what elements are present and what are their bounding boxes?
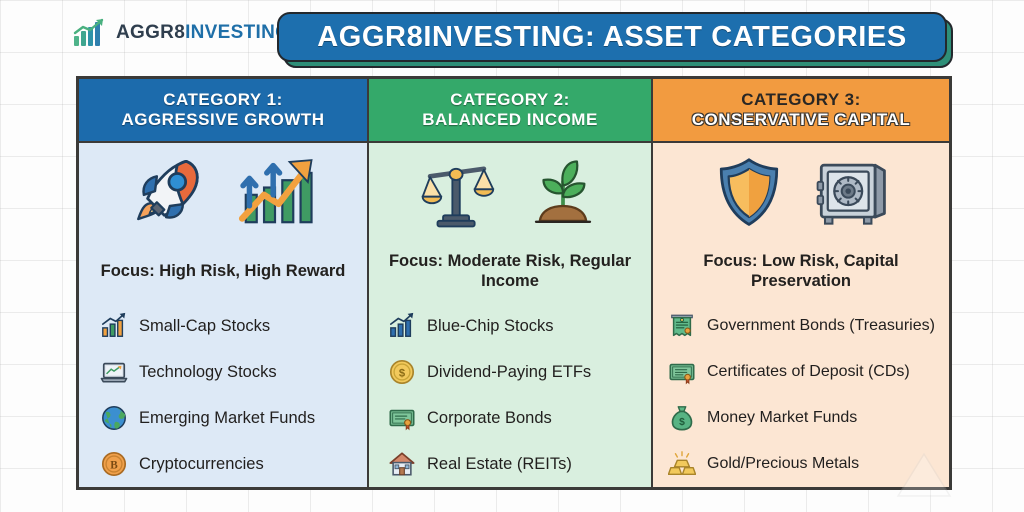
list-item-label: Emerging Market Funds xyxy=(139,409,315,427)
list-item-label: Gold/Precious Metals xyxy=(707,455,859,473)
globe-icon xyxy=(99,403,129,433)
certificate-icon xyxy=(667,357,697,387)
page-title: AGGR8INVESTING: ASSET CATEGORIES xyxy=(317,21,907,54)
brand-wordmark: AGGR8INVESTING xyxy=(116,22,290,44)
svg-text:$: $ xyxy=(399,368,406,380)
category-1-header: CATEGORY 1: AGGRESSIVE GROWTH xyxy=(79,79,367,143)
list-item-label: Small-Cap Stocks xyxy=(139,317,270,335)
bitcoin-coin-icon: B xyxy=(99,449,129,479)
scroll-certificate-icon xyxy=(667,311,697,341)
list-item[interactable]: Emerging Market Funds xyxy=(79,395,367,441)
list-item[interactable]: Small-Cap Stocks xyxy=(79,303,367,349)
seedling-icon xyxy=(523,154,603,232)
category-column-2: CATEGORY 2: BALANCED INCOME xyxy=(369,79,653,487)
category-2-focus: Focus: Moderate Risk, Regular Income xyxy=(369,243,651,299)
category-column-3: CATEGORY 3: CONSERVATIVE CAPITAL xyxy=(653,79,949,487)
category-3-focus: Focus: Low Risk, Capital Preservation xyxy=(653,243,949,299)
list-item-label: Government Bonds (Treasuries) xyxy=(707,317,935,335)
money-bag-icon: $ xyxy=(667,403,697,433)
brand-logo[interactable]: AGGR8INVESTING xyxy=(72,18,290,48)
list-item[interactable]: Blue-Chip Stocks xyxy=(369,303,651,349)
list-item-label: Technology Stocks xyxy=(139,363,277,381)
category-1-item-list: Small-Cap Stocks Technology Stocks xyxy=(79,299,367,487)
list-item[interactable]: Gold/Precious Metals xyxy=(653,441,949,487)
house-icon xyxy=(387,449,417,479)
list-item[interactable]: Technology Stocks xyxy=(79,349,367,395)
bond-certificate-icon xyxy=(387,403,417,433)
category-2-item-list: Blue-Chip Stocks $ Dividend-Paying ETFs xyxy=(369,299,651,487)
category-3-focus-text: Focus: Low Risk, Capital Preservation xyxy=(667,251,935,291)
infographic-page: AGGR8INVESTING AGGR8INVESTING: ASSET CAT… xyxy=(0,0,1024,512)
balance-scale-icon xyxy=(417,154,497,232)
list-item-label: Blue-Chip Stocks xyxy=(427,317,554,335)
bar-chart-icon xyxy=(387,311,417,341)
list-item-label: Money Market Funds xyxy=(707,409,857,427)
category-2-header: CATEGORY 2: BALANCED INCOME xyxy=(369,79,651,143)
list-item-label: Corporate Bonds xyxy=(427,409,552,427)
list-item-label: Certificates of Deposit (CDs) xyxy=(707,363,910,381)
category-1-focus: Focus: High Risk, High Reward xyxy=(79,243,367,299)
category-2-header-line1: CATEGORY 2: xyxy=(450,90,569,110)
title-banner-body: AGGR8INVESTING: ASSET CATEGORIES xyxy=(277,12,947,62)
rocket-icon xyxy=(129,154,207,232)
gold-bars-icon xyxy=(667,449,697,479)
category-1-focus-text: Focus: High Risk, High Reward xyxy=(101,261,346,281)
svg-text:B: B xyxy=(110,460,118,472)
list-item-label: Real Estate (REITs) xyxy=(427,455,572,473)
brand-wordmark-part1: AGGR8 xyxy=(116,22,185,43)
category-column-1: CATEGORY 1: AGGRESSIVE GROWTH xyxy=(79,79,369,487)
top-bar: AGGR8INVESTING AGGR8INVESTING: ASSET CAT… xyxy=(0,0,1024,72)
svg-text:$: $ xyxy=(679,417,685,428)
category-3-header: CATEGORY 3: CONSERVATIVE CAPITAL xyxy=(653,79,949,143)
safe-vault-icon xyxy=(812,154,890,232)
list-item[interactable]: $ Money Market Funds xyxy=(653,395,949,441)
category-1-header-line2: AGGRESSIVE GROWTH xyxy=(121,110,324,130)
shield-icon xyxy=(712,154,786,232)
list-item-label: Cryptocurrencies xyxy=(139,455,264,473)
category-3-hero-icons xyxy=(653,143,949,243)
category-3-header-line2: CONSERVATIVE CAPITAL xyxy=(692,110,910,130)
list-item[interactable]: Real Estate (REITs) xyxy=(369,441,651,487)
category-1-hero-icons xyxy=(79,143,367,243)
brand-wordmark-part2: INVESTING xyxy=(185,22,290,43)
laptop-icon xyxy=(99,357,129,387)
bar-chart-icon xyxy=(99,311,129,341)
category-2-focus-text: Focus: Moderate Risk, Regular Income xyxy=(383,251,637,291)
list-item[interactable]: $ Dividend-Paying ETFs xyxy=(369,349,651,395)
dollar-coin-icon: $ xyxy=(387,357,417,387)
list-item[interactable]: Certificates of Deposit (CDs) xyxy=(653,349,949,395)
list-item[interactable]: Corporate Bonds xyxy=(369,395,651,441)
category-3-header-line1: CATEGORY 3: xyxy=(741,90,860,110)
chart-increasing-icon xyxy=(233,154,317,232)
category-2-header-line2: BALANCED INCOME xyxy=(422,110,598,130)
category-2-hero-icons xyxy=(369,143,651,243)
list-item-label: Dividend-Paying ETFs xyxy=(427,363,591,381)
category-3-item-list: Government Bonds (Treasuries) Certificat… xyxy=(653,299,949,487)
list-item[interactable]: Government Bonds (Treasuries) xyxy=(653,303,949,349)
title-banner: AGGR8INVESTING: ASSET CATEGORIES xyxy=(277,12,949,62)
categories-card: CATEGORY 1: AGGRESSIVE GROWTH xyxy=(76,76,952,490)
bar-chart-growth-icon xyxy=(72,18,108,48)
category-1-header-line1: CATEGORY 1: xyxy=(163,90,282,110)
list-item[interactable]: B Cryptocurrencies xyxy=(79,441,367,487)
